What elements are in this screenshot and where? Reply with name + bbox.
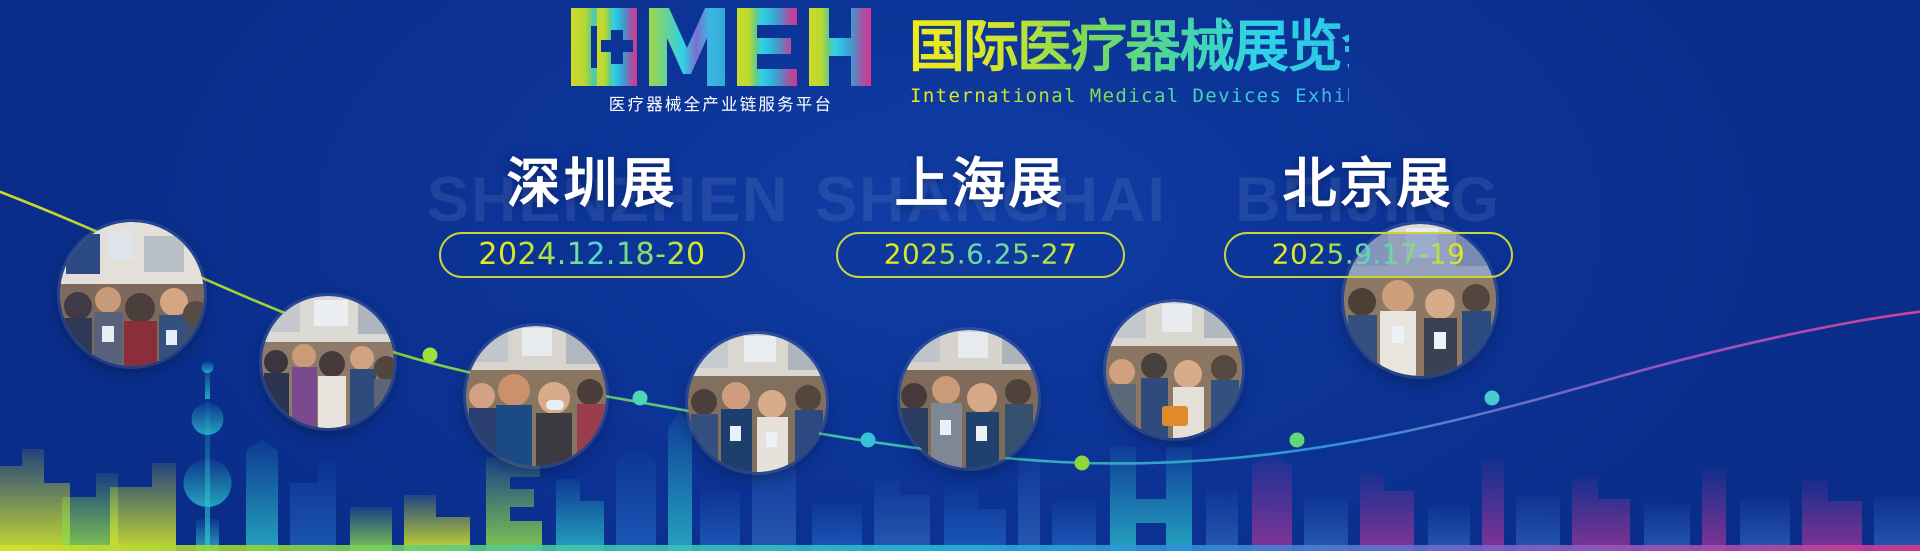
exhibition-banner: 医疗器械全产业链服务平台 国际医疗器械展览会	[0, 0, 1920, 551]
city-name: 上海展	[895, 152, 1066, 216]
title-chinese: 国际医疗器械展览会	[909, 14, 1349, 76]
logo-block: 医疗器械全产业链服务平台	[571, 8, 871, 115]
title-block: 国际医疗器械展览会 International Medical Devices …	[909, 8, 1349, 108]
date-badge-shanghai[interactable]: 2025.6.25-27	[836, 232, 1125, 278]
date-text: 2024.12.18-20	[478, 239, 705, 269]
exhibition-crowd-6	[1106, 302, 1242, 438]
exhibition-crowd-5	[900, 330, 1038, 468]
exhibition-crowd-2	[262, 296, 394, 428]
city-card-shenzhen[interactable]: SHENZHEN 深圳展 2024.12.18-20	[427, 152, 757, 278]
city-name: 深圳展	[507, 152, 678, 216]
banner-header: 医疗器械全产业链服务平台 国际医疗器械展览会	[0, 8, 1920, 115]
photo-bubble-5	[900, 330, 1038, 468]
date-text: 2025.9.17-19	[1271, 239, 1465, 269]
exhibition-crowd-3	[466, 326, 606, 466]
exhibition-crowd-4	[688, 334, 826, 472]
title-chinese-text: 国际医疗器械展览会	[909, 15, 1349, 76]
exhibition-crowd-1	[60, 222, 204, 366]
date-badge-beijing[interactable]: 2025.9.17-19	[1224, 232, 1513, 278]
title-english-text: International Medical Devices Exhibition…	[910, 85, 1349, 107]
title-english: International Medical Devices Exhibition…	[909, 82, 1349, 108]
photo-bubble-6	[1106, 302, 1242, 438]
logo-tagline: 医疗器械全产业链服务平台	[609, 91, 833, 115]
photo-bubble-1	[60, 222, 204, 366]
city-card-shanghai[interactable]: SHANGHAI 上海展 2025.6.25-27	[815, 152, 1145, 278]
cmeh-logo-icon	[571, 8, 871, 86]
bottom-rainbow-strip	[0, 545, 1920, 551]
city-name: 北京展	[1283, 152, 1454, 216]
photo-bubble-3	[466, 326, 606, 466]
photo-bubble-4	[688, 334, 826, 472]
city-list: SHENZHEN 深圳展 2024.12.18-20	[0, 152, 1920, 278]
date-text: 2025.6.25-27	[883, 239, 1077, 269]
city-card-beijing[interactable]: BEIJING 北京展 2025.9.17-19	[1203, 152, 1533, 278]
photo-bubble-2	[262, 296, 394, 428]
date-badge-shenzhen[interactable]: 2024.12.18-20	[439, 232, 745, 278]
